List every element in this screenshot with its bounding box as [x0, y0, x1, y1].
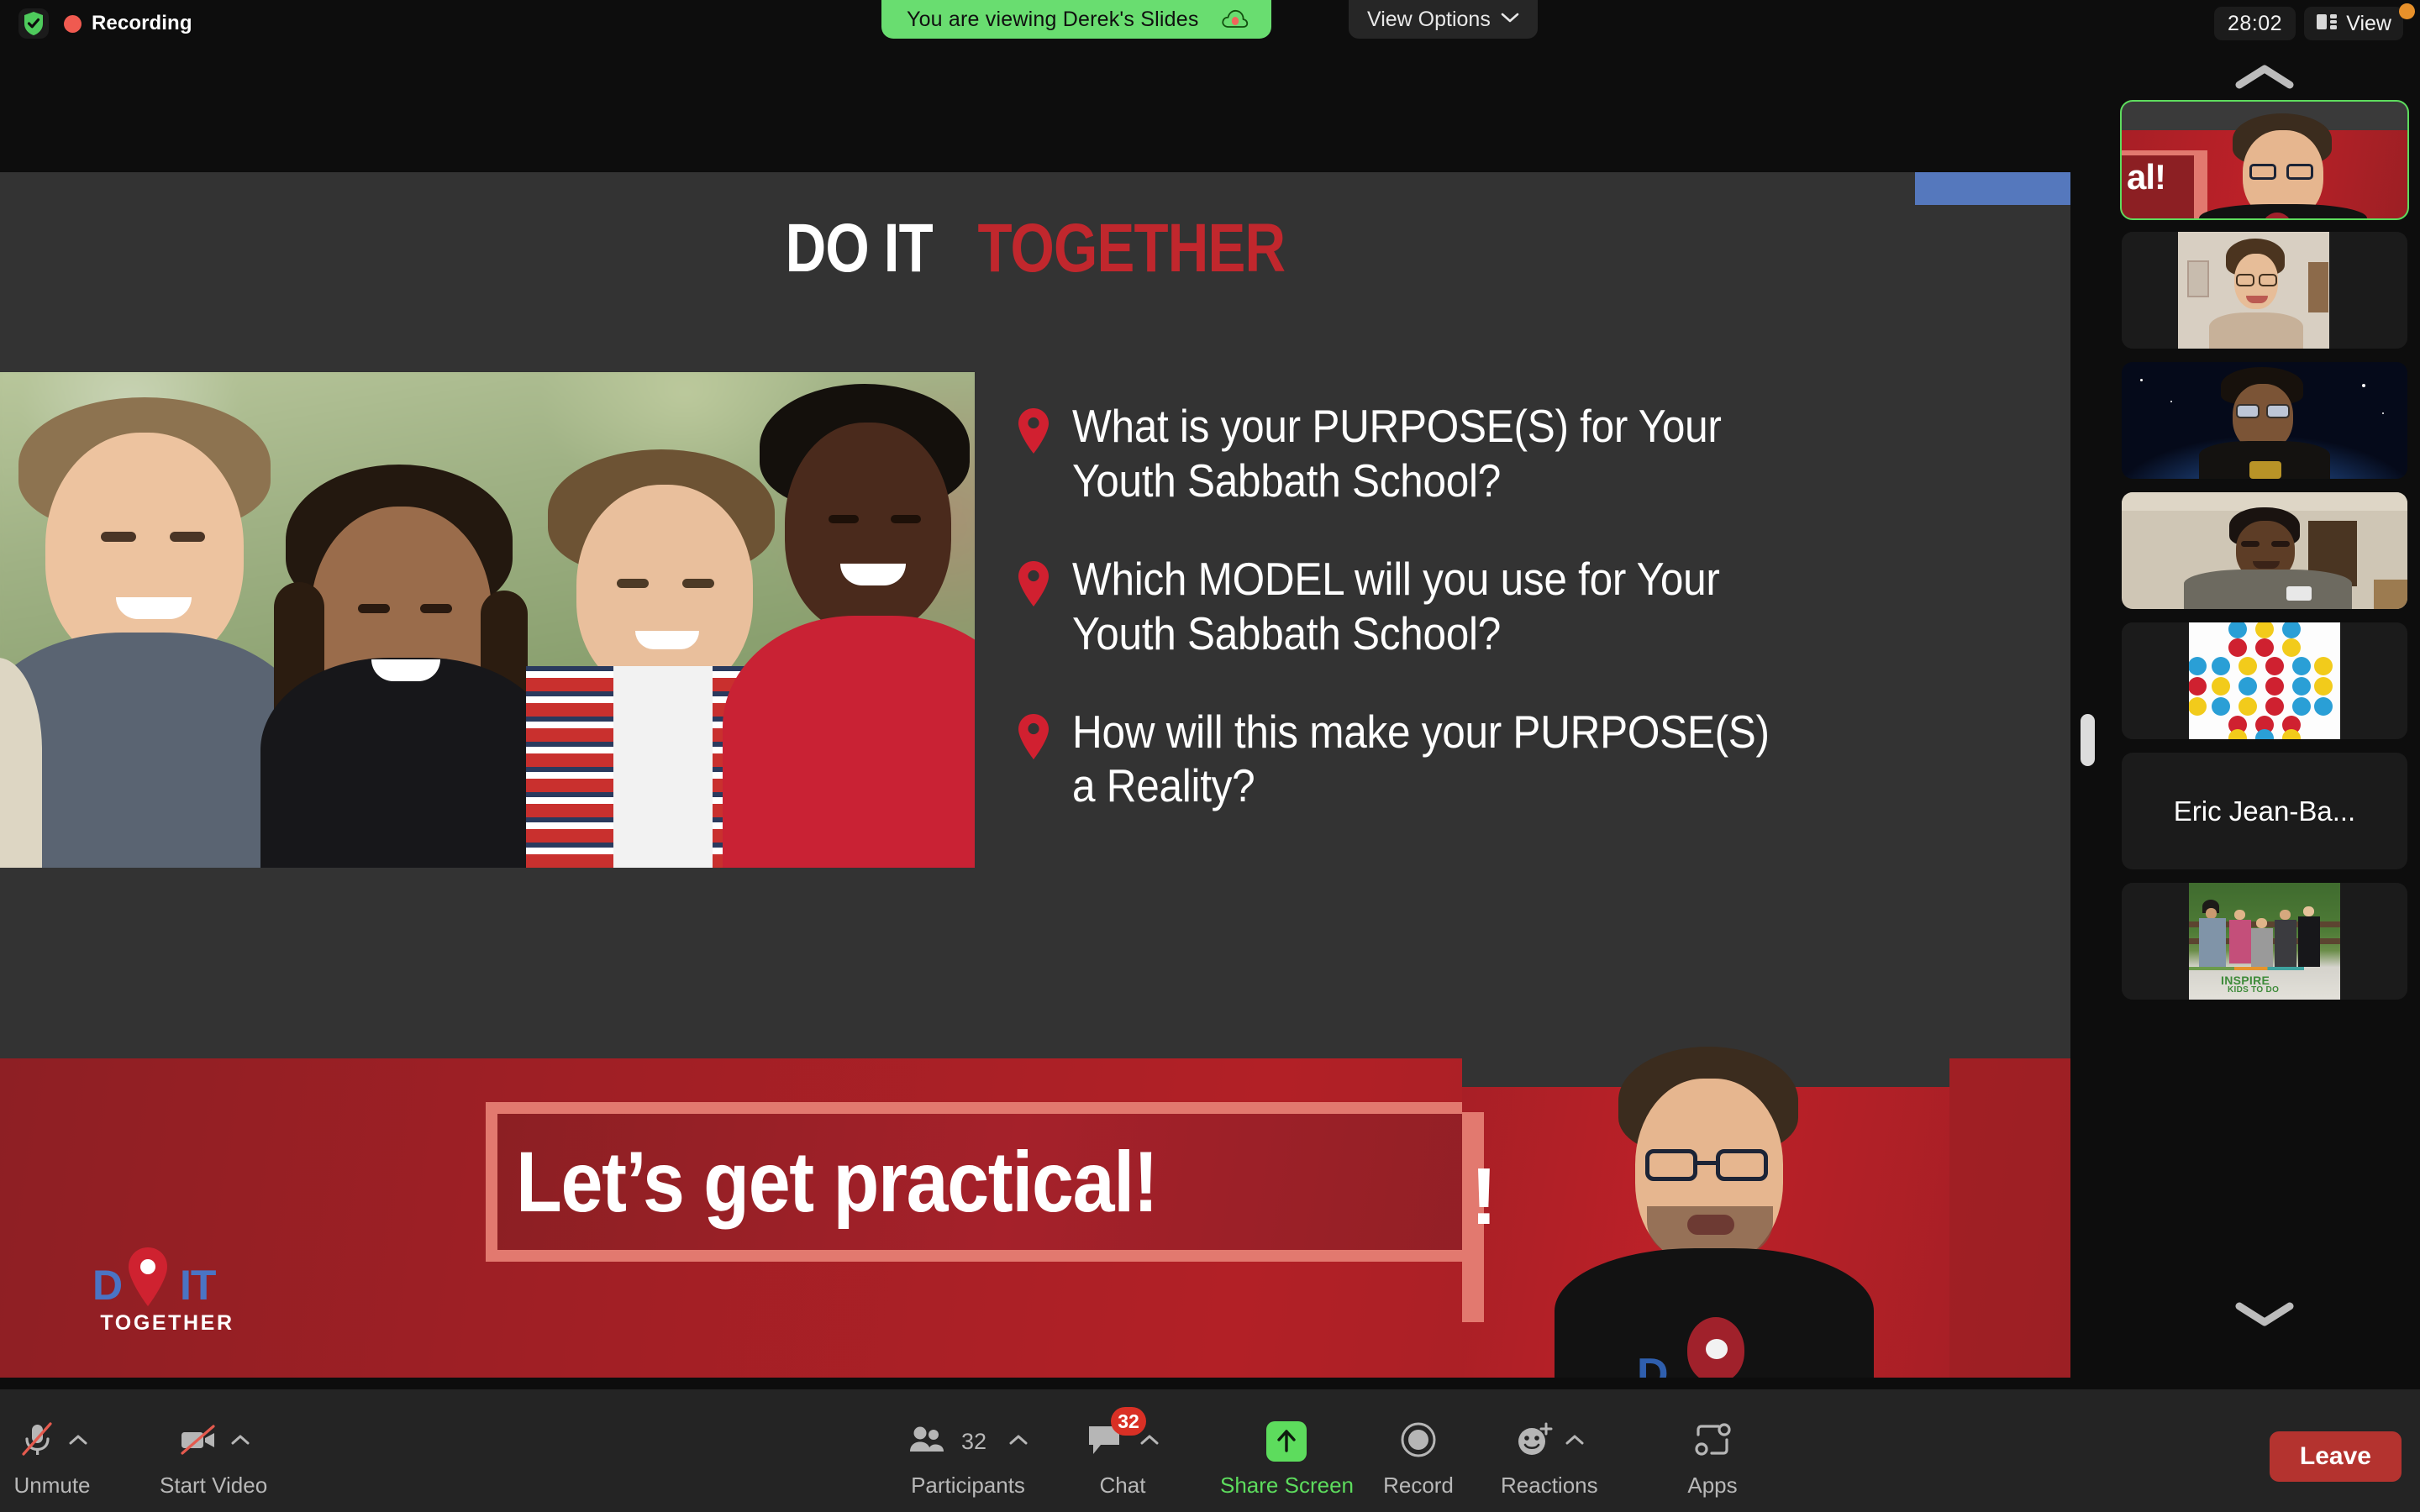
shared-content-scrollbar[interactable]	[2070, 172, 2109, 1378]
start-video-button-label: Start Video	[160, 1473, 267, 1499]
filmstrip-scroll-down-button[interactable]	[2109, 1289, 2420, 1339]
recording-indicator: Recording	[18, 8, 192, 39]
apps-button-label: Apps	[1687, 1473, 1737, 1499]
chevron-up-icon[interactable]	[68, 1433, 88, 1451]
chevron-up-icon[interactable]	[230, 1433, 250, 1451]
participants-button-label: Participants	[911, 1473, 1025, 1499]
video-thumbnail: INSPIRE KIDS TO DO	[2122, 883, 2407, 1000]
cloud-recording-icon	[1221, 7, 1249, 32]
map-pin-icon	[1017, 407, 1050, 459]
video-thumbnail	[2122, 622, 2407, 739]
participants-count: 32	[961, 1429, 986, 1455]
share-banner-text: You are viewing Derek's Slides	[907, 8, 1199, 32]
map-pin-icon	[1017, 713, 1050, 764]
students-photo	[0, 372, 975, 868]
participant-name: Eric Jean-Ba...	[2122, 753, 2407, 869]
reactions-button-label: Reactions	[1501, 1473, 1598, 1499]
logo-subtitle: TOGETHER	[87, 1311, 247, 1336]
smiley-plus-icon	[1514, 1421, 1555, 1462]
view-layout-button[interactable]: View	[2304, 7, 2403, 40]
mute-button[interactable]: Unmute	[12, 1419, 92, 1499]
bullet-text: How will this make your PURPOSE(S) a Rea…	[1072, 705, 1770, 814]
slide-title: DO IT TOGETHER	[187, 209, 1884, 288]
chevron-up-icon[interactable]	[1565, 1433, 1585, 1451]
record-circle-icon	[1399, 1420, 1438, 1463]
record-button[interactable]: Record	[1378, 1419, 1459, 1499]
microphone-muted-icon	[16, 1419, 58, 1465]
participant-tile[interactable]	[2122, 362, 2407, 479]
video-thumbnail	[2122, 492, 2407, 609]
zoom-meeting-window: Recording You are viewing Derek's Slides…	[0, 0, 2420, 1512]
share-screen-button[interactable]: Share Screen	[1220, 1419, 1354, 1499]
video-thumbnail	[2122, 232, 2407, 349]
practical-banner-text: Let’s get practical!	[516, 1133, 1157, 1231]
leave-button[interactable]: Leave	[2270, 1431, 2402, 1482]
video-thumbnail	[2122, 362, 2407, 479]
participant-tile[interactable]: Eric Jean-Ba...	[2122, 753, 2407, 869]
share-screen-button-label: Share Screen	[1220, 1473, 1354, 1499]
bullet-text: Which MODEL will you use for Your Youth …	[1072, 552, 1720, 661]
shield-check-icon[interactable]	[18, 8, 49, 39]
start-video-button[interactable]: Start Video	[160, 1419, 267, 1499]
participants-filmstrip: al!	[2109, 45, 2420, 1389]
view-label: View	[2346, 12, 2391, 36]
photo-person-4	[731, 372, 975, 868]
slide-title-white: DO IT	[786, 210, 933, 286]
share-banner: You are viewing Derek's Slides	[881, 0, 1271, 39]
participant-tile[interactable]: INSPIRE KIDS TO DO	[2122, 883, 2407, 1000]
practical-banner: Let’s get practical!	[486, 1102, 1536, 1262]
meeting-toolbar: Unmute Start Video	[0, 1389, 2420, 1512]
participant-tile[interactable]: al!	[2122, 102, 2407, 218]
participant-tile[interactable]	[2122, 492, 2407, 609]
share-screen-arrow-icon	[1266, 1421, 1307, 1462]
meeting-timer: 28:02	[2214, 7, 2296, 40]
layout-view-icon	[2316, 12, 2338, 36]
scrollbar-thumb[interactable]	[2081, 714, 2095, 766]
participants-button[interactable]: 32 Participants	[907, 1419, 1028, 1499]
status-indicator-dot	[2399, 3, 2415, 19]
recording-label: Recording	[92, 12, 192, 35]
camera-off-icon	[176, 1419, 220, 1465]
chat-unread-badge: 32	[1111, 1407, 1146, 1436]
top-bar: Recording You are viewing Derek's Slides…	[0, 0, 2420, 45]
logo-letter-d: D	[92, 1261, 122, 1310]
do-it-together-logo: D IT TOGETHER	[87, 1257, 247, 1336]
slide-accent-rectangle	[1915, 172, 2070, 205]
slide-title-red: TOGETHER	[978, 210, 1286, 286]
shared-content-stage: DO IT TOGETHER	[0, 45, 2109, 1389]
bullet-item: What is your PURPOSE(S) for Your Youth S…	[1017, 399, 2070, 508]
record-button-label: Record	[1383, 1473, 1454, 1499]
participant-tile[interactable]	[2122, 622, 2407, 739]
chevron-down-icon	[1501, 12, 1519, 28]
participants-icon	[907, 1423, 946, 1461]
slide-bullet-list: What is your PURPOSE(S) for Your Youth S…	[1017, 399, 2070, 857]
photo-person-2	[252, 414, 555, 868]
mute-button-label: Unmute	[13, 1473, 90, 1499]
bullet-item: How will this make your PURPOSE(S) a Rea…	[1017, 705, 2070, 814]
logo-letters-it: IT	[180, 1261, 215, 1310]
shared-slide[interactable]: DO IT TOGETHER	[0, 172, 2070, 1378]
filmstrip-scroll-up-button[interactable]	[2109, 52, 2420, 102]
presenter-figure: D	[1588, 1038, 1823, 1378]
reactions-button[interactable]: Reactions	[1501, 1419, 1598, 1499]
view-options-label: View Options	[1367, 8, 1491, 32]
map-pin-icon	[1017, 560, 1050, 612]
chat-button-label: Chat	[1100, 1473, 1146, 1499]
chat-button[interactable]: 32 Chat	[1082, 1419, 1163, 1499]
bullet-item: Which MODEL will you use for Your Youth …	[1017, 552, 2070, 661]
map-pin-icon	[126, 1246, 170, 1314]
recording-dot-icon	[64, 15, 82, 33]
participant-tile[interactable]	[2122, 232, 2407, 349]
view-options-button[interactable]: View Options	[1349, 0, 1538, 39]
apps-button[interactable]: Apps	[1672, 1419, 1753, 1499]
presenter-video-overlay[interactable]: ! D	[1462, 1025, 1949, 1378]
chevron-up-icon[interactable]	[1008, 1433, 1028, 1451]
video-thumbnail: al!	[2122, 102, 2407, 218]
apps-icon	[1693, 1421, 1732, 1462]
chevron-up-icon[interactable]	[1139, 1433, 1160, 1451]
bullet-text: What is your PURPOSE(S) for Your Youth S…	[1072, 399, 1722, 508]
